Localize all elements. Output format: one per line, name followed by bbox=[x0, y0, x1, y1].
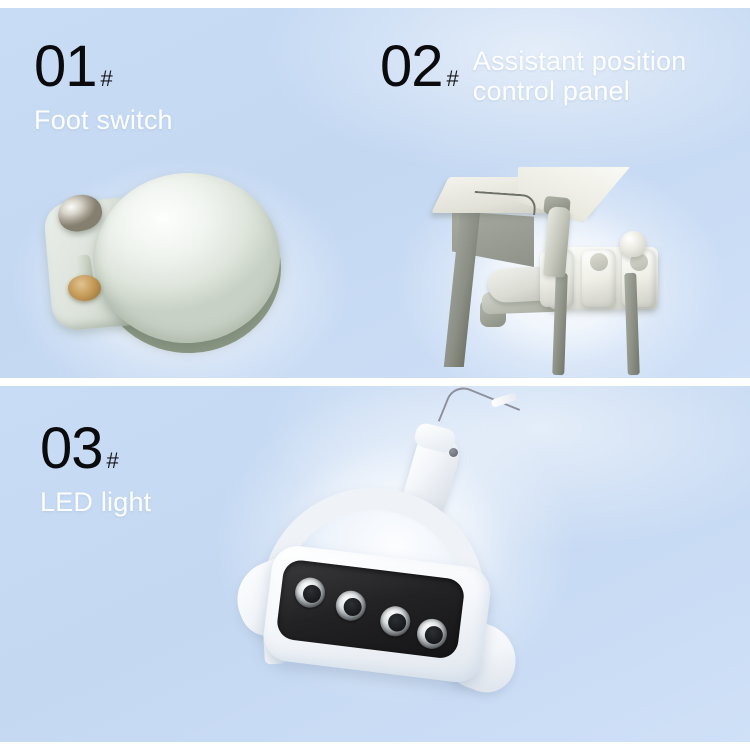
feature-heading-01: 01 # Foot switch bbox=[34, 40, 173, 136]
feature-panel-01: 01 # Foot switch bbox=[0, 8, 375, 378]
feature-caption-01: Foot switch bbox=[34, 105, 173, 135]
feature-number-row-03: 03 # bbox=[40, 422, 151, 475]
hash-symbol-01: # bbox=[101, 68, 113, 90]
top-section: 01 # Foot switch 02 # bbox=[0, 8, 750, 378]
foot-switch-brass-collar bbox=[68, 275, 101, 301]
feature-number-03: 03 bbox=[40, 422, 103, 475]
led-lens-core-2 bbox=[343, 597, 363, 617]
suction-cradle-2 bbox=[582, 249, 616, 307]
hash-symbol-02: # bbox=[447, 68, 459, 90]
cradle-notch-2 bbox=[590, 253, 608, 271]
hash-symbol-03: # bbox=[107, 450, 119, 472]
feature-caption-02-line1: Assistant position bbox=[473, 46, 748, 76]
feature-caption-02: Assistant position control panel bbox=[473, 46, 748, 106]
feature-panel-02: 02 # Assistant position control panel bbox=[375, 8, 750, 378]
led-lens-3 bbox=[379, 605, 412, 638]
feature-number-02: 02 bbox=[380, 40, 443, 93]
led-lens-core-3 bbox=[387, 612, 407, 632]
feature-heading-03: 03 # LED light bbox=[40, 422, 151, 518]
led-lens-core-1 bbox=[302, 584, 322, 604]
saliva-ejector-knob bbox=[620, 231, 646, 257]
bottom-section: 03 # LED light bbox=[0, 386, 750, 742]
led-lens-2 bbox=[334, 589, 367, 622]
feature-caption-02-line2: control panel bbox=[473, 76, 748, 106]
feature-number-01: 01 bbox=[34, 40, 97, 93]
product-feature-poster: 01 # Foot switch 02 # bbox=[0, 0, 750, 750]
foot-switch-image bbox=[40, 171, 290, 356]
led-mount-screw bbox=[449, 448, 458, 457]
feature-caption-03: LED light bbox=[40, 487, 151, 517]
feature-number-row-02: 02 # bbox=[380, 40, 459, 93]
control-wire bbox=[473, 191, 536, 215]
assistant-panel-image bbox=[430, 163, 670, 378]
led-light-image bbox=[245, 386, 545, 716]
led-lens-face bbox=[275, 558, 465, 660]
feature-heading-02: 02 # Assistant position control panel bbox=[380, 40, 748, 106]
feature-number-row-01: 01 # bbox=[34, 40, 173, 93]
chair-table-leg bbox=[444, 211, 480, 367]
suction-hose-1 bbox=[552, 273, 568, 375]
led-lens-1 bbox=[293, 576, 326, 609]
led-lens-core-4 bbox=[424, 625, 444, 645]
led-lens-4 bbox=[415, 617, 448, 650]
feature-panel-03: 03 # LED light bbox=[0, 386, 750, 742]
